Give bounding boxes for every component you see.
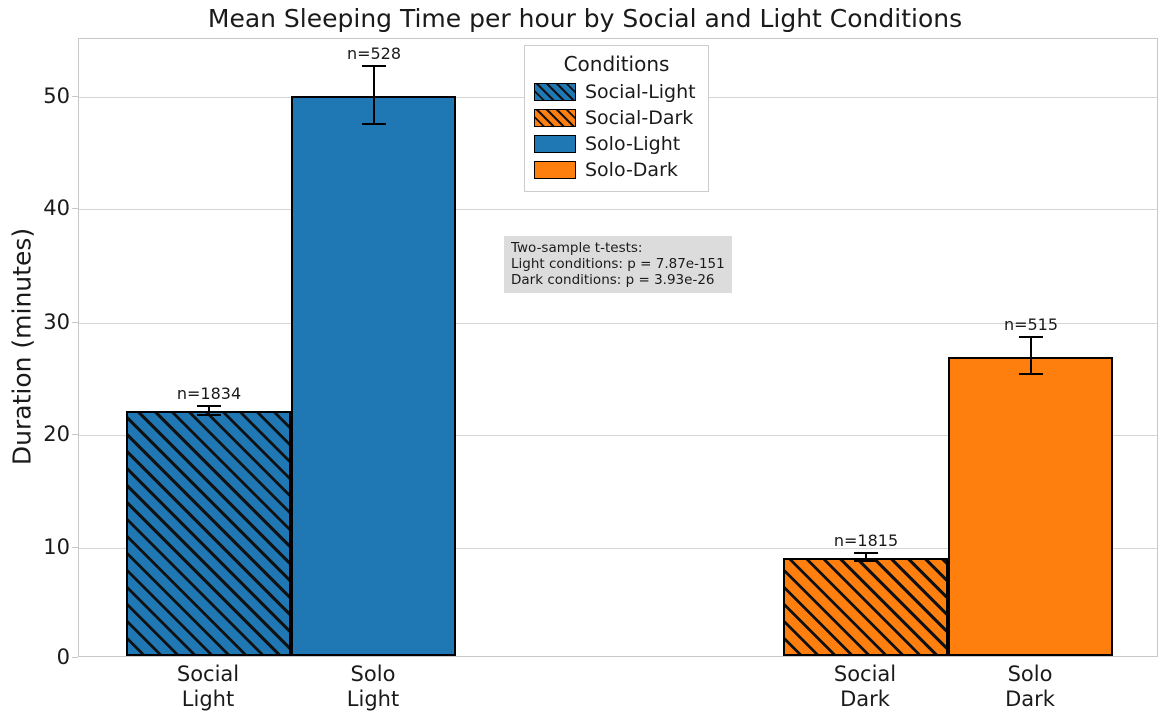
errorbar-solo-light bbox=[373, 67, 375, 125]
bar-solo-light[interactable] bbox=[291, 96, 456, 656]
stats-annotation: Two-sample t-tests: Light conditions: p … bbox=[504, 236, 732, 293]
legend-item-social-dark[interactable]: Social-Dark bbox=[534, 105, 699, 131]
legend-item-solo-dark[interactable]: Solo-Dark bbox=[534, 157, 699, 183]
y-axis-label: Duration (minutes) bbox=[8, 37, 37, 657]
legend: Conditions Social-Light Social-Dark Solo… bbox=[524, 45, 709, 192]
errorbar-cap-upper bbox=[362, 65, 386, 67]
legend-item-solo-light[interactable]: Solo-Light bbox=[534, 131, 699, 157]
stats-line-dark: Dark conditions: p = 3.93e-26 bbox=[511, 272, 725, 288]
stats-line-light: Light conditions: p = 7.87e-151 bbox=[511, 256, 725, 272]
n-label-solo-dark: n=515 bbox=[1004, 315, 1058, 334]
errorbar-cap-lower bbox=[854, 560, 878, 562]
bar-solo-dark[interactable] bbox=[948, 357, 1113, 656]
gridline-40 bbox=[79, 209, 1157, 210]
x-tick-label-solo-light: Solo Light bbox=[347, 662, 399, 712]
x-tick-label-social-light: Social Light bbox=[177, 662, 239, 712]
chart-figure: Mean Sleeping Time per hour by Social an… bbox=[0, 0, 1170, 719]
legend-label: Social-Dark bbox=[585, 107, 693, 129]
legend-swatch-icon bbox=[534, 109, 576, 127]
errorbar-cap-upper bbox=[1019, 336, 1043, 338]
legend-label: Solo-Light bbox=[585, 133, 680, 155]
gridline-30 bbox=[79, 323, 1157, 324]
legend-label: Social-Light bbox=[585, 81, 696, 103]
stats-line-heading: Two-sample t-tests: bbox=[511, 240, 725, 256]
errorbar-cap-upper bbox=[854, 552, 878, 554]
y-tick-mark bbox=[72, 657, 78, 658]
bar-social-dark[interactable] bbox=[783, 558, 948, 656]
x-tick-label-social-dark: Social Dark bbox=[834, 662, 896, 712]
errorbar-cap-upper bbox=[197, 405, 221, 407]
errorbar-solo-dark bbox=[1030, 338, 1032, 375]
n-label-solo-light: n=528 bbox=[347, 44, 401, 63]
page-title: Mean Sleeping Time per hour by Social an… bbox=[0, 4, 1170, 33]
legend-item-social-light[interactable]: Social-Light bbox=[534, 79, 699, 105]
bar-social-light[interactable] bbox=[126, 411, 291, 656]
legend-title: Conditions bbox=[534, 52, 699, 76]
x-tick-label-solo-dark: Solo Dark bbox=[1005, 662, 1055, 712]
legend-swatch-icon bbox=[534, 135, 576, 153]
n-label-social-dark: n=1815 bbox=[834, 531, 898, 550]
legend-swatch-icon bbox=[534, 161, 576, 179]
errorbar-cap-lower bbox=[197, 414, 221, 416]
n-label-social-light: n=1834 bbox=[177, 384, 241, 403]
errorbar-cap-lower bbox=[362, 123, 386, 125]
legend-swatch-icon bbox=[534, 83, 576, 101]
legend-label: Solo-Dark bbox=[585, 159, 678, 181]
errorbar-cap-lower bbox=[1019, 373, 1043, 375]
